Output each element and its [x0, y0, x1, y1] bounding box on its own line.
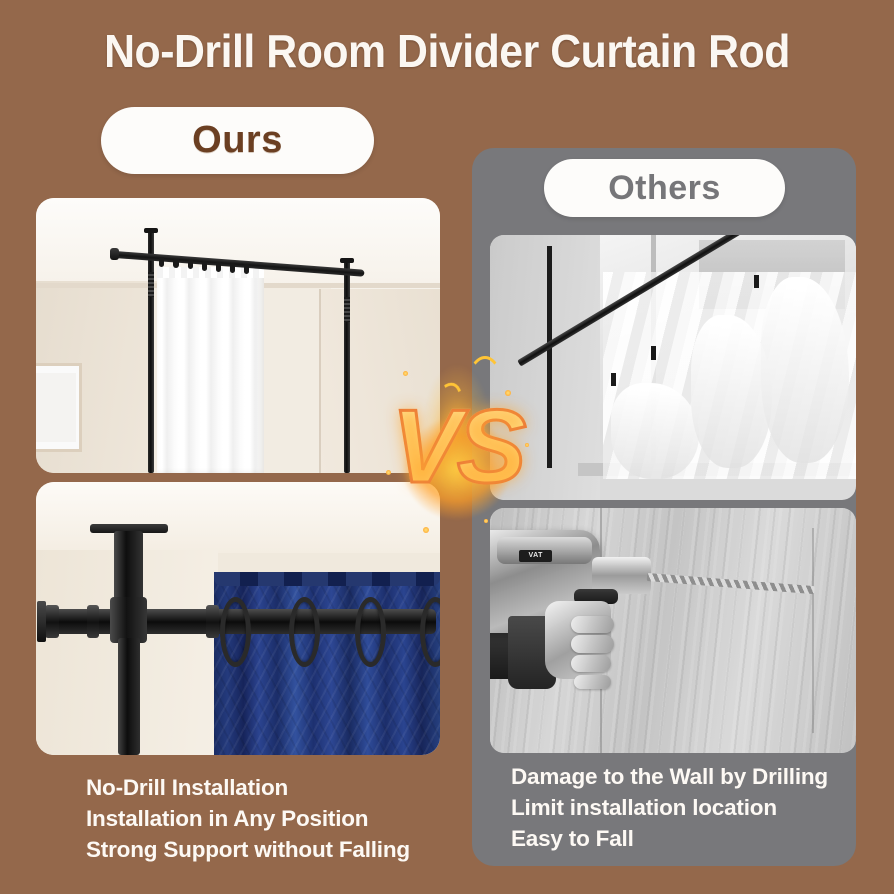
curtain-hook [173, 259, 178, 269]
others-badge: Others [544, 159, 785, 217]
rod-clip [611, 373, 616, 386]
photo-hammer-drill-wall: VAT [490, 508, 856, 753]
others-drawback-item: Easy to Fall [511, 823, 871, 854]
curtain-hook [230, 263, 235, 273]
support-post-right [344, 260, 350, 473]
ours-benefit-item: Installation in Any Position [86, 803, 486, 834]
post-thread-right [344, 297, 350, 322]
curtain-fabric-texture [214, 572, 440, 755]
vertical-post-lower [118, 638, 140, 755]
curtain-top-edge [214, 572, 440, 586]
hand-finger [571, 616, 615, 633]
curtain-hook [216, 262, 221, 272]
support-post-left [148, 230, 154, 473]
curtain-grommet [289, 597, 320, 667]
wall-picture-frame [36, 363, 82, 452]
door-frame-post [547, 246, 552, 469]
curtain-hook [188, 260, 193, 270]
ours-benefit-item: Strong Support without Falling [86, 834, 486, 865]
drill-brand-text: VAT [529, 552, 543, 559]
rod-ferrule [206, 605, 219, 638]
photo-fallen-curtain-rod [490, 235, 856, 500]
page-title: No-Drill Room Divider Curtain Rod [31, 24, 862, 78]
others-drawback-list: Damage to the Wall by Drilling Limit ins… [511, 761, 871, 854]
ours-badge: Ours [101, 107, 374, 174]
others-drawback-item: Damage to the Wall by Drilling [511, 761, 871, 792]
hand-finger [571, 655, 611, 672]
ours-benefit-list: No-Drill Installation Installation in An… [86, 772, 486, 865]
ours-badge-label: Ours [192, 119, 283, 162]
post-ceiling-pad-left [144, 228, 159, 233]
room-wall-right [319, 289, 440, 473]
white-sheer-curtain [157, 268, 264, 473]
vertical-post-upper [114, 531, 144, 602]
hand-finger [574, 675, 611, 690]
wall-edge-right [812, 528, 814, 734]
rod-ferrule [45, 605, 60, 638]
product-comparison-infographic: No-Drill Room Divider Curtain Rod [0, 0, 894, 894]
rod-clip [651, 346, 656, 359]
curtain-hook [244, 264, 249, 274]
curtain-grommet [220, 597, 251, 667]
room-corner-right [319, 289, 321, 473]
post-ceiling-pad-right [340, 258, 355, 263]
post-thread-left [148, 272, 154, 297]
rod-end-cap [110, 248, 120, 260]
others-badge-label: Others [608, 169, 721, 208]
rod-end-cap [37, 601, 46, 642]
curtain-hook [202, 261, 207, 271]
closeup-ceiling [36, 482, 440, 553]
side-wall [490, 235, 600, 500]
navy-curtain-drape [214, 572, 440, 755]
photo-ceiling-mounted-rod-room [36, 198, 440, 473]
photo-rod-tee-joint-closeup [36, 482, 440, 755]
rod-ferrule [87, 605, 100, 638]
tee-joint-connector [110, 597, 147, 643]
hand-finger [571, 635, 615, 652]
others-drawback-item: Limit installation location [511, 792, 871, 823]
rod-clip [754, 275, 759, 288]
ours-benefit-item: No-Drill Installation [86, 772, 486, 803]
curtain-grommet [355, 597, 386, 667]
drill-brand-label: VAT [519, 550, 552, 562]
